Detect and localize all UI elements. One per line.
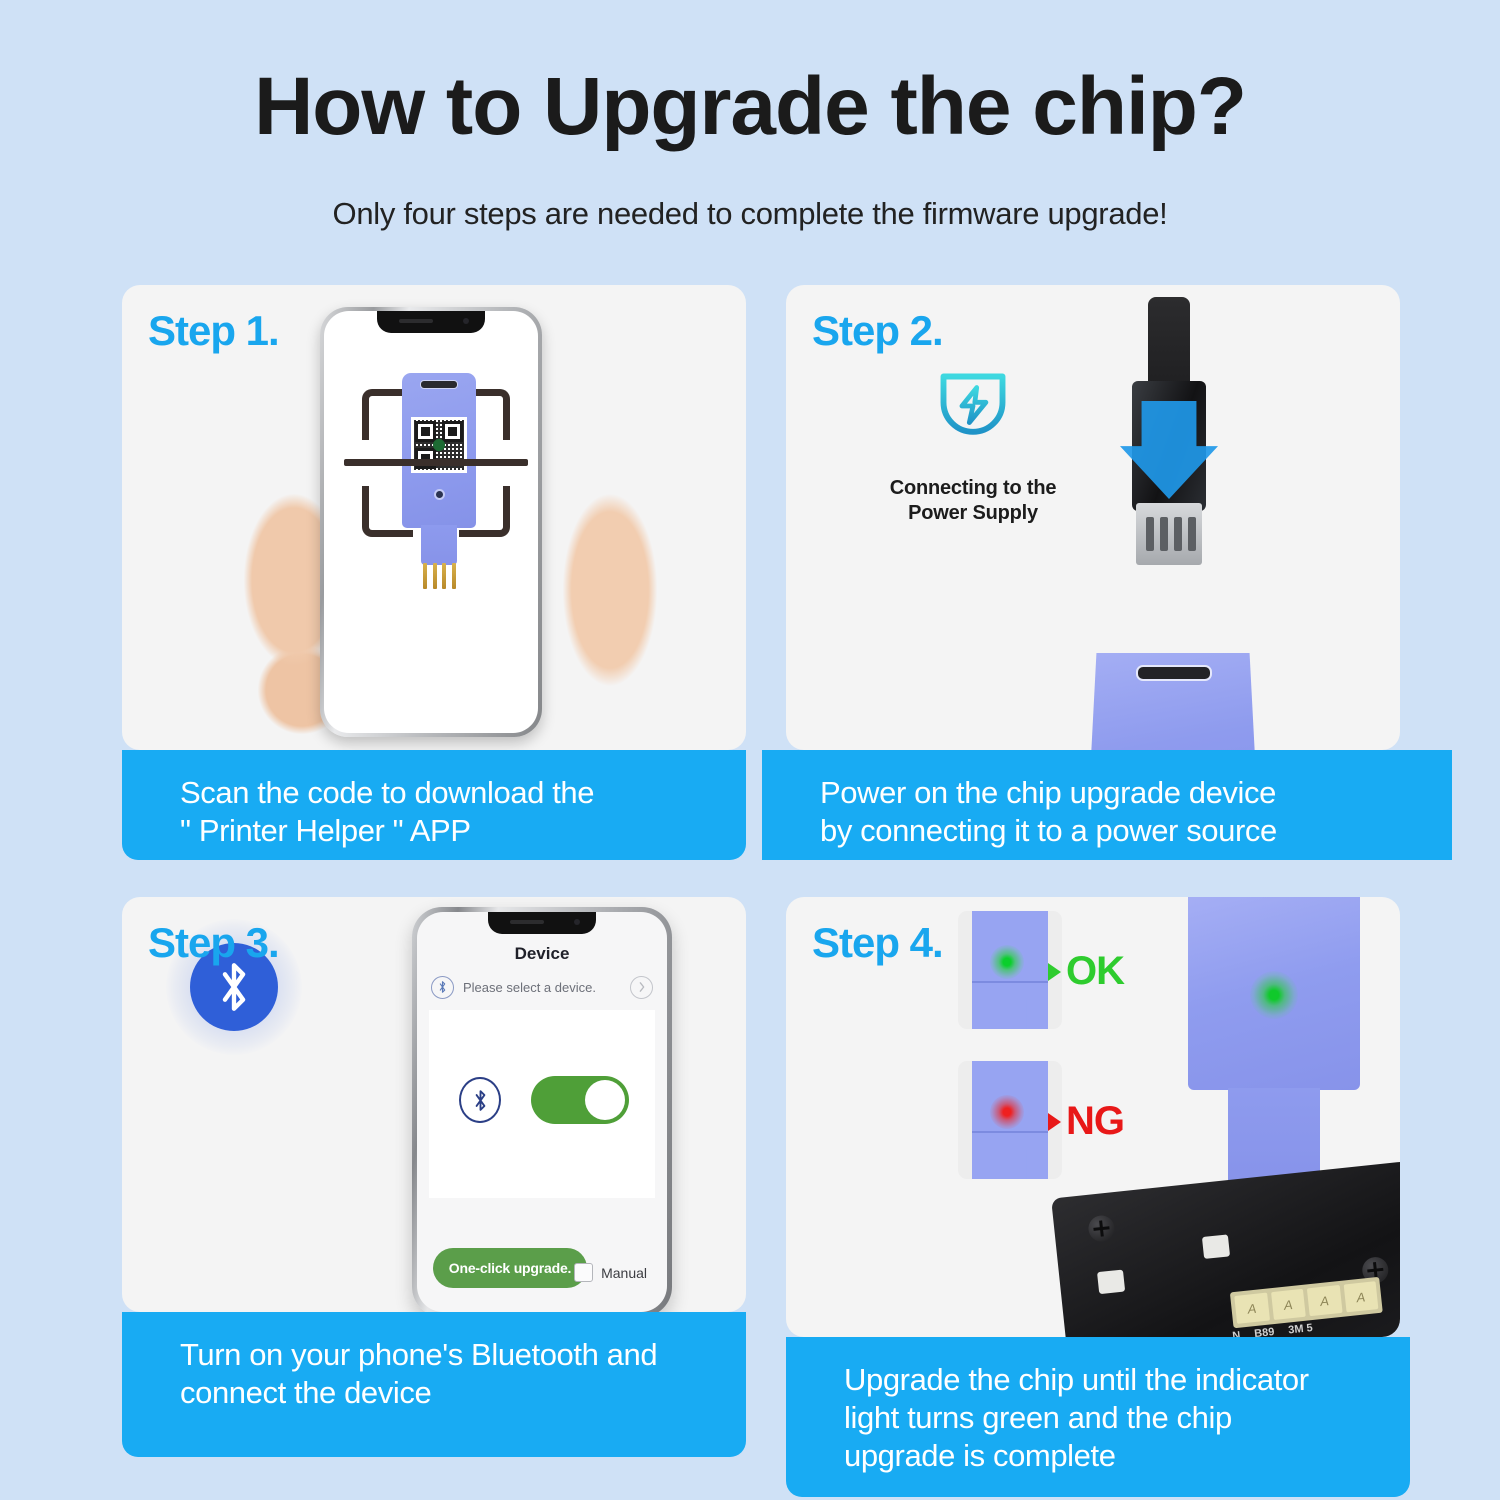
step-4-card: OK NG AAAA [786,897,1400,1337]
chip-upgrade-device-image [1188,897,1360,1205]
device-list-panel [429,1010,655,1198]
bluetooth-icon [431,976,454,999]
step-2-caption: Power on the chip upgrade device by conn… [762,750,1452,860]
power-supply-label-line-2: Power Supply [868,501,1078,526]
usb-metal-tip [1136,503,1202,565]
phone-screen [324,311,538,733]
step-3-caption-line-2: connect the device [180,1374,746,1412]
ng-status-label: NG [1066,1099,1124,1144]
step-4-caption: Upgrade the chip until the indicator lig… [786,1337,1410,1497]
step-1-caption-line-1: Scan the code to download the [180,774,746,812]
pcb-label-2: 3M 5 [1288,1322,1314,1336]
red-led-indicator [990,1095,1024,1129]
power-plug-icon [914,347,1032,465]
step-1-caption-line-2: " Printer Helper " APP [180,812,746,850]
step-2-caption-line-2: by connecting it to a power source [820,812,1452,850]
indicator-thumbnail-ng [958,1061,1062,1179]
page-title: How to Upgrade the chip? [0,66,1500,148]
smd-component [1097,1270,1125,1295]
device-usb-port [1136,665,1212,681]
step-3-label: Step 3. [148,919,279,967]
phone-notch [488,912,596,934]
app-screen-title: Device [417,944,667,964]
power-supply-label-line-1: Connecting to the [868,476,1078,501]
pcb-label-1: B89 [1254,1326,1275,1337]
step-3-card: Device Please select a device. [122,897,746,1312]
step-1-card: Step 1. [122,285,746,750]
bluetooth-icon [459,1077,501,1123]
phone-screen: Device Please select a device. [417,912,667,1312]
pcb-label-0: N [1232,1330,1241,1337]
bluetooth-toggle-switch[interactable] [531,1076,629,1124]
chip-upgrade-device-image [402,373,476,588]
manual-checkbox-row[interactable]: Manual [574,1263,647,1282]
chevron-right-icon[interactable] [630,976,653,999]
step-2-caption-line-1: Power on the chip upgrade device [820,774,1452,812]
step-4-caption-line-1: Upgrade the chip until the indicator [844,1361,1410,1399]
step-1-label: Step 1. [148,307,279,355]
ok-status-label: OK [1066,949,1124,994]
smd-component [1202,1234,1230,1259]
page-subtitle: Only four steps are needed to complete t… [0,196,1500,232]
manual-checkbox[interactable] [574,1263,593,1282]
green-led-indicator [1250,971,1298,1019]
toner-cartridge-pcb-image: AAAA N B89 3M 5 [1051,1160,1400,1337]
step-4-label: Step 4. [812,919,943,967]
screw-icon [1087,1214,1116,1243]
ng-status-row: NG [1048,1099,1124,1144]
device-usb-port [420,380,458,389]
one-click-upgrade-button[interactable]: One-click upgrade. [433,1248,587,1288]
smartphone-device [320,307,542,737]
chip-upgrade-device-image [1086,653,1260,750]
infographic-page: How to Upgrade the chip? Only four steps… [0,0,1500,1500]
step-3-caption-line-1: Turn on your phone's Bluetooth and [180,1336,746,1374]
qr-scan-line [344,459,528,466]
step-3-caption: Turn on your phone's Bluetooth and conne… [122,1312,746,1457]
smartphone-device: Device Please select a device. [412,907,672,1312]
bluetooth-toggle-row[interactable] [459,1076,629,1124]
device-select-row[interactable]: Please select a device. [431,974,653,1000]
gold-pogo-pins [423,563,456,589]
triangle-marker-icon [1048,1113,1061,1131]
ok-status-row: OK [1048,949,1124,994]
indicator-thumbnail-ok [958,911,1062,1029]
power-supply-label: Connecting to the Power Supply [868,476,1078,526]
power-supply-block: Connecting to the Power Supply [868,347,1078,547]
usb-cable [1148,297,1190,393]
step-2-label: Step 2. [812,307,943,355]
step-4-caption-line-2: light turns green and the chip [844,1399,1410,1437]
step-2-card: Connecting to the Power Supply Step 2. [786,285,1400,750]
step-1-caption: Scan the code to download the " Printer … [122,750,746,860]
phone-notch [377,311,485,333]
device-indicator-led [436,491,443,498]
triangle-marker-icon [1048,963,1061,981]
usb-connector-image [1106,297,1236,637]
step-4-caption-line-3: upgrade is complete [844,1437,1410,1475]
device-select-hint: Please select a device. [463,980,596,995]
green-led-indicator [990,945,1024,979]
manual-checkbox-label: Manual [601,1265,647,1281]
